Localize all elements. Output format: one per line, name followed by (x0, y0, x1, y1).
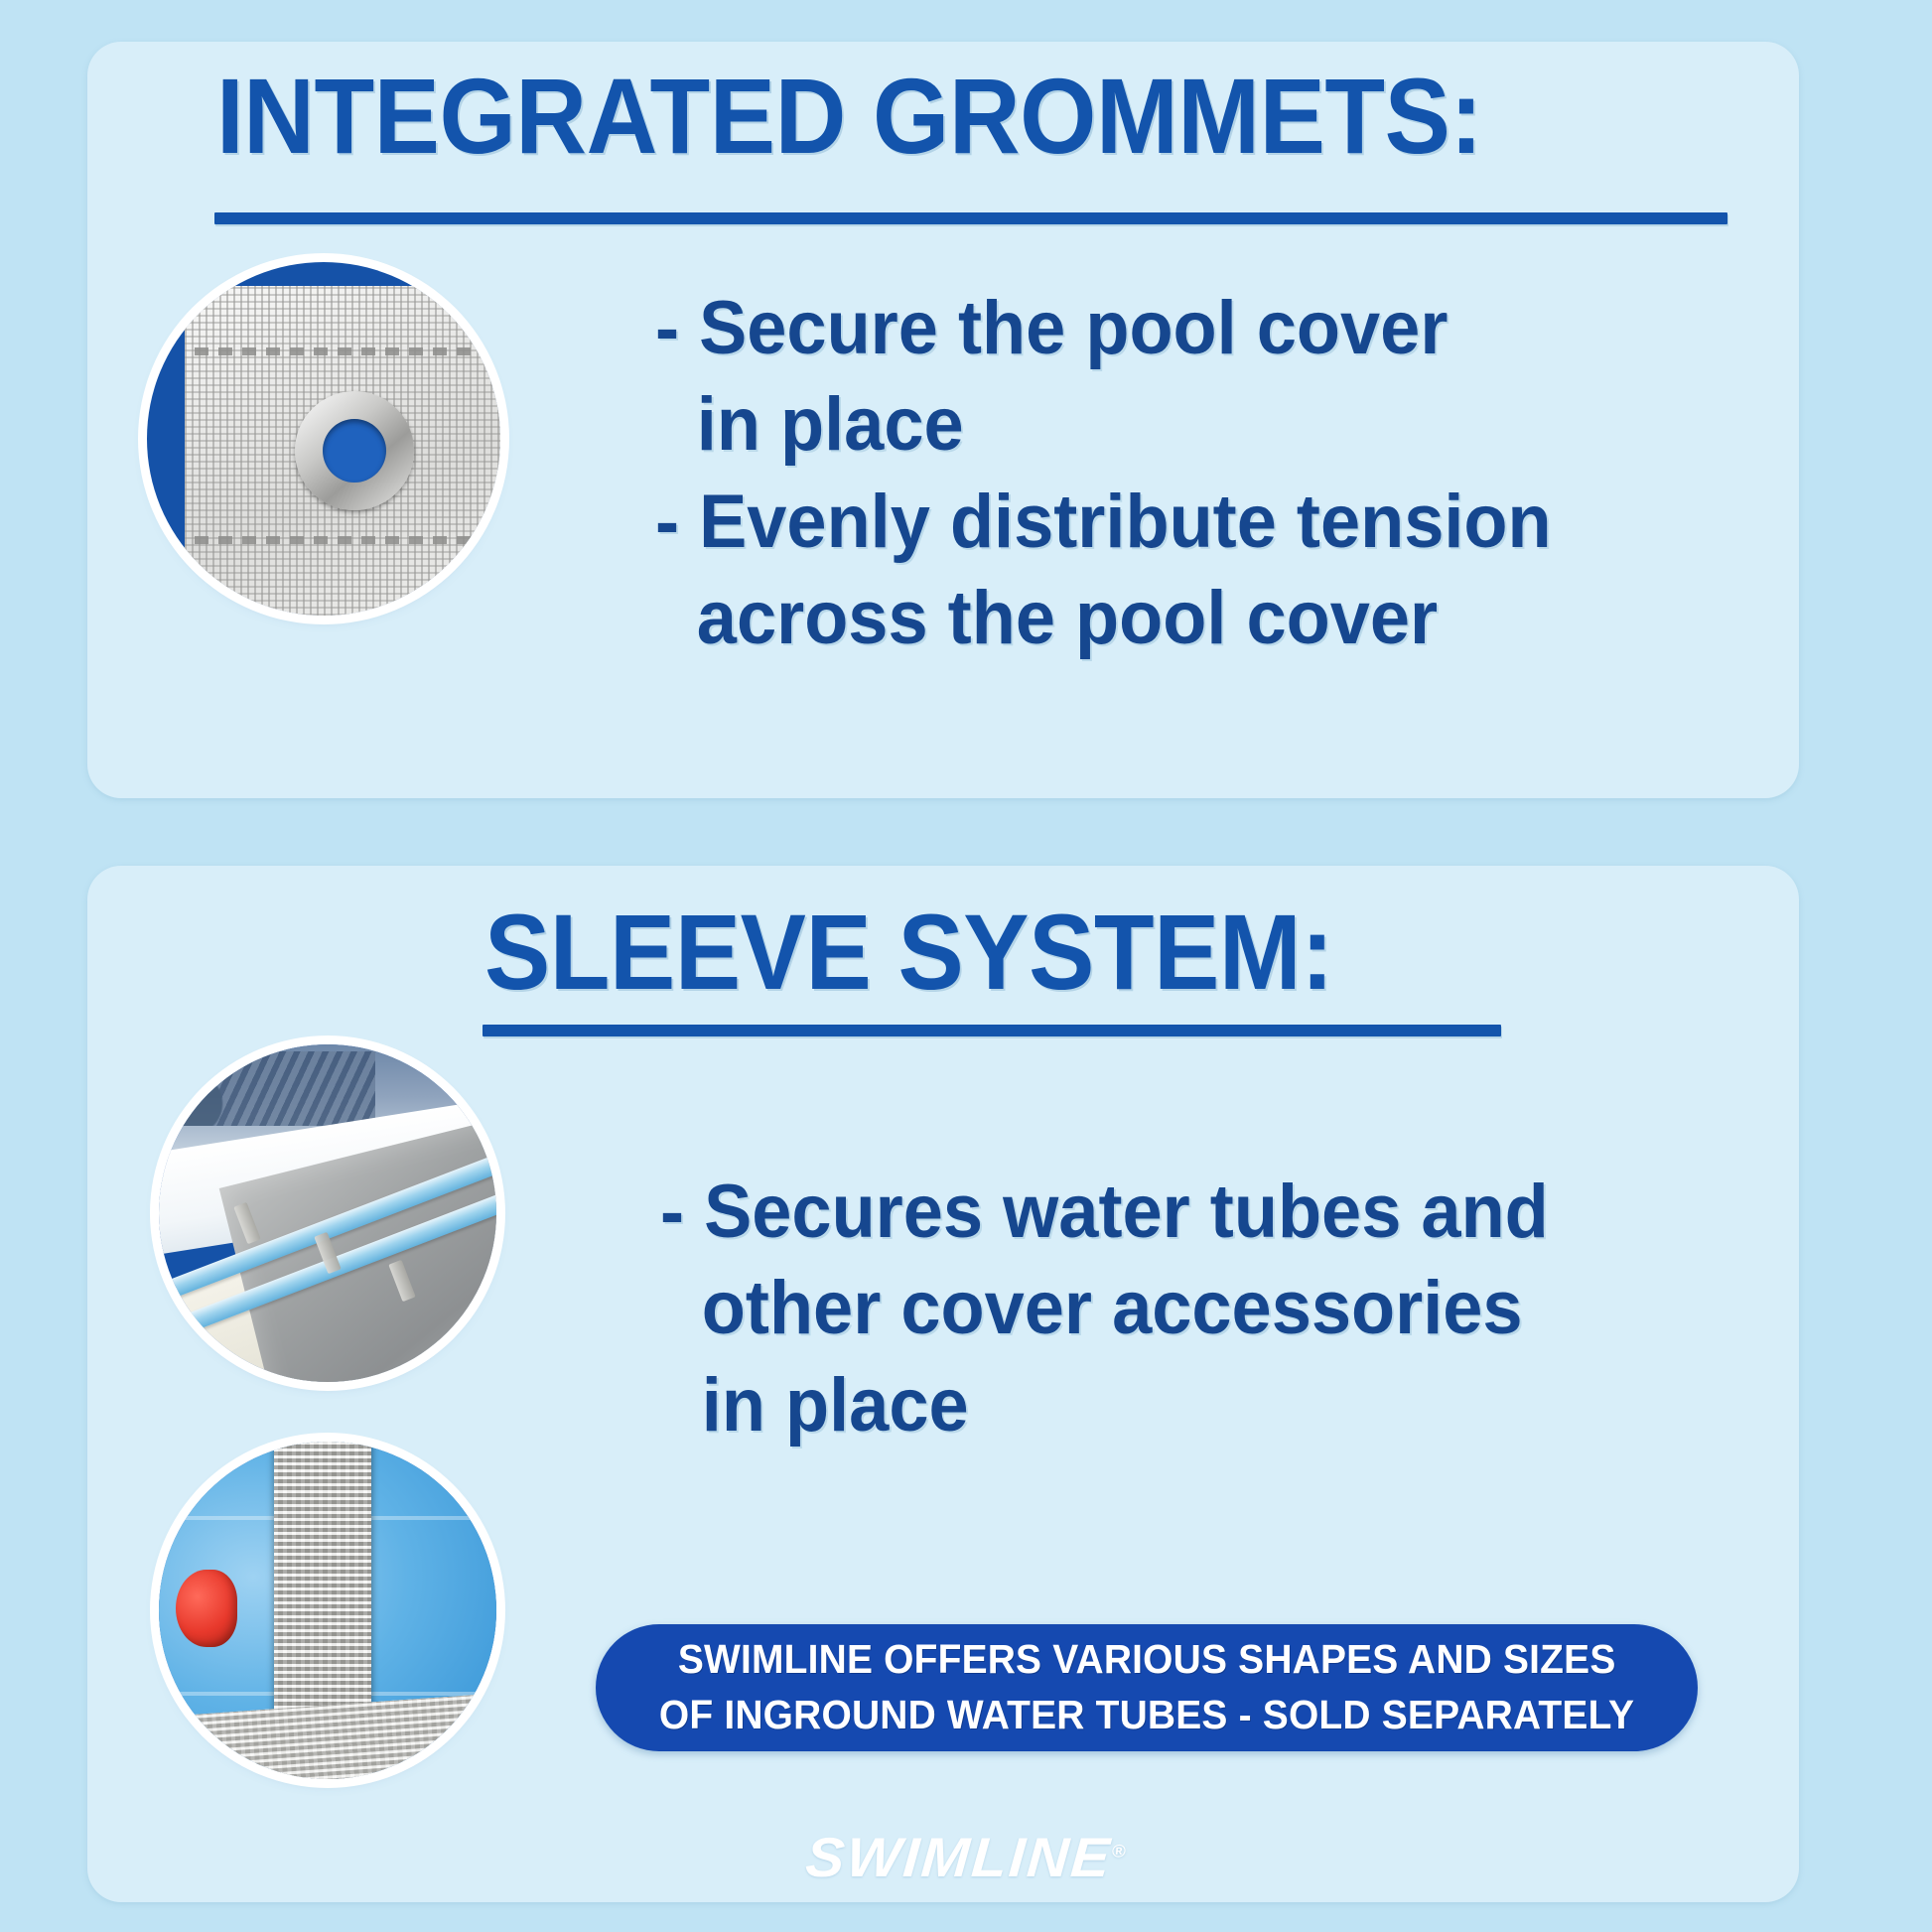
water-tube-photo-inner (159, 1442, 496, 1779)
stitch-row-bottom-icon (195, 536, 494, 544)
registered-trademark-icon: ® (1112, 1841, 1127, 1861)
snowy-trees (166, 1051, 375, 1126)
infographic-root: INTEGRATED GROMMETS: - Secure the pool c… (0, 0, 1932, 1932)
mesh-fabric-swatch (185, 286, 500, 616)
bullet-line-2: other cover accessories (660, 1260, 1726, 1356)
water-tube-sleeve-closeup-photo (159, 1442, 496, 1779)
banner-line-2: OF INGROUND WATER TUBES - SOLD SEPARATEL… (659, 1688, 1634, 1743)
banner-line-1: SWIMLINE OFFERS VARIOUS SHAPES AND SIZES (678, 1632, 1616, 1688)
metal-grommet-ring-icon (295, 391, 414, 510)
pool-cover-with-water-tubes-photo (159, 1044, 496, 1382)
bullet-line-1: - Secures water tubes and (660, 1164, 1726, 1260)
swimline-wordmark: SWIMLINE® (804, 1825, 1128, 1889)
bullet-line-1: - Secure the pool cover (655, 280, 1712, 376)
red-tube-cap-icon (176, 1570, 237, 1647)
pool-cover-photo-inner (159, 1044, 496, 1382)
bullet-line-4: across the pool cover (655, 570, 1712, 666)
grommet-photo-inner (147, 262, 500, 616)
water-tubes-sold-separately-banner: SWIMLINE OFFERS VARIOUS SHAPES AND SIZES… (596, 1624, 1698, 1751)
grommet-closeup-photo (147, 262, 500, 616)
swimline-wordmark-text: SWIMLINE (804, 1826, 1114, 1888)
heading-underline-sleeve (483, 1025, 1501, 1036)
swimline-logo: SWIMLINE® (0, 1825, 1932, 1889)
stitch-row-top-icon (195, 347, 494, 355)
bullet-line-3: - Evenly distribute tension (655, 474, 1712, 570)
bullet-line-3: in place (660, 1357, 1726, 1453)
heading-underline-grommets (214, 212, 1727, 224)
grommet-hole-icon (323, 419, 386, 483)
heading-integrated-grommets: INTEGRATED GROMMETS: (216, 58, 1482, 176)
bullet-line-2: in place (655, 376, 1712, 473)
heading-sleeve-system: SLEEVE SYSTEM: (484, 894, 1333, 1012)
bullet-list-grommets: - Secure the pool cover in place - Evenl… (655, 280, 1712, 666)
bullet-list-sleeve: - Secures water tubes and other cover ac… (660, 1164, 1726, 1453)
